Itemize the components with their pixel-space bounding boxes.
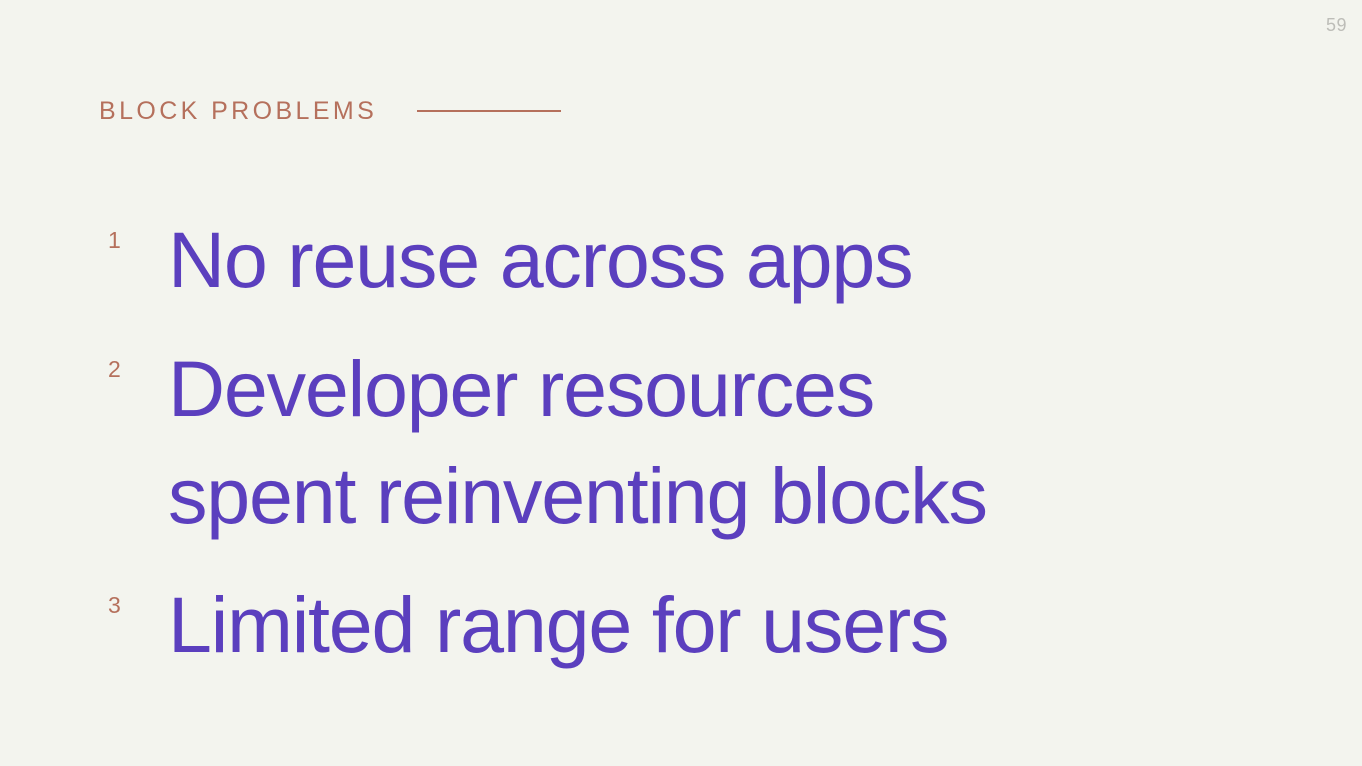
list-item: 3 Limited range for users bbox=[99, 571, 1279, 678]
list-item-label: Developer resources spent reinventing bl… bbox=[168, 344, 987, 540]
list-item-number: 1 bbox=[108, 229, 121, 252]
list-item-label: No reuse across apps bbox=[168, 215, 912, 304]
horizontal-rule-icon bbox=[417, 110, 561, 112]
list-item-number: 2 bbox=[108, 358, 121, 381]
eyebrow-header: Block Problems bbox=[99, 94, 561, 128]
problem-list: 1 No reuse across apps 2 Developer resou… bbox=[99, 206, 1279, 678]
list-item: 1 No reuse across apps bbox=[99, 206, 1279, 313]
list-item-label: Limited range for users bbox=[168, 580, 948, 669]
slide-root: 59 Block Problems 1 No reuse across apps… bbox=[0, 0, 1362, 766]
section-title: Block Problems bbox=[99, 94, 377, 128]
list-item: 2 Developer resources spent reinventing … bbox=[99, 335, 1279, 549]
list-item-number: 3 bbox=[108, 594, 121, 617]
page-number: 59 bbox=[1326, 16, 1347, 34]
